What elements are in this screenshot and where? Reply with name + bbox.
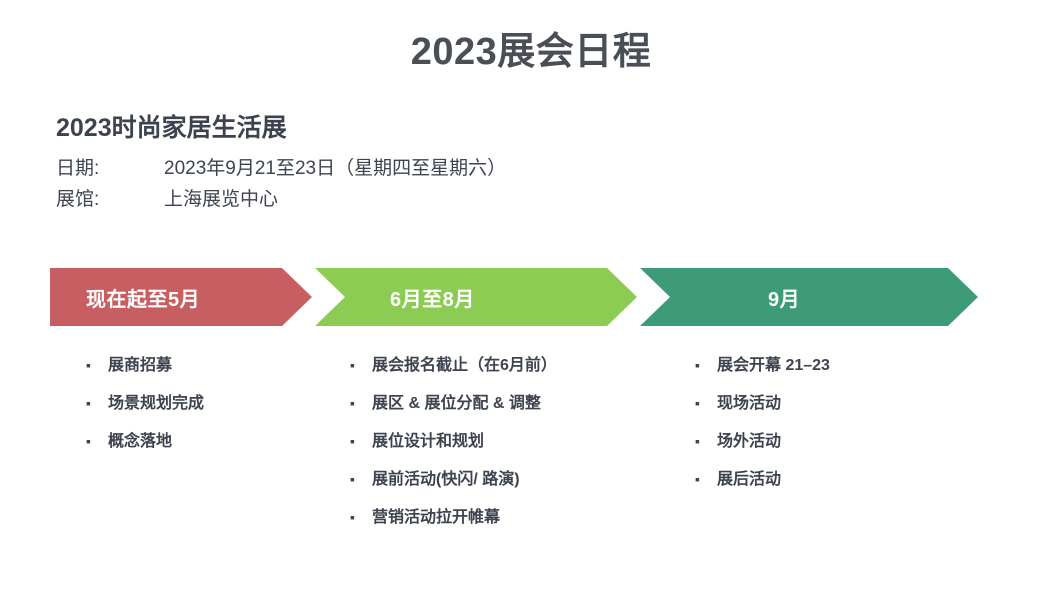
bullet-icon: ▪ — [350, 394, 372, 413]
timeline-stage-1: 现在起至5月 — [50, 268, 312, 326]
bullet-icon: ▪ — [86, 356, 108, 375]
timeline-banner: 现在起至5月 6月至8月 9月 — [50, 268, 978, 326]
event-date-row: 日期: 2023年9月21至23日（星期四至星期六） — [56, 154, 506, 185]
bullet-icon: ▪ — [695, 470, 717, 489]
list-item: ▪ 展区 & 展位分配 & 调整 — [350, 394, 630, 414]
list-item-label: 展会报名截止（在6月前） — [372, 356, 630, 376]
event-venue-value: 上海展览中心 — [164, 185, 506, 216]
event-name: 2023时尚家居生活展 — [56, 112, 506, 146]
bullet-icon: ▪ — [695, 394, 717, 413]
list-item: ▪ 展会报名截止（在6月前） — [350, 356, 630, 376]
list-item-label: 展前活动(快闪/ 路演) — [372, 470, 630, 490]
timeline-stage-3-label: 9月 — [768, 283, 800, 312]
list-item: ▪ 展位设计和规划 — [350, 432, 630, 452]
list-item: ▪ 展商招募 — [86, 356, 336, 376]
list-item: ▪ 展前活动(快闪/ 路演) — [350, 470, 630, 490]
bullet-icon: ▪ — [350, 432, 372, 451]
list-item-label: 展会开幕 21–23 — [717, 356, 955, 376]
list-item: ▪ 场景规划完成 — [86, 394, 336, 414]
list-item-label: 场外活动 — [717, 432, 955, 452]
list-item: ▪ 展后活动 — [695, 470, 955, 490]
stage-2-task-list: ▪ 展会报名截止（在6月前） ▪ 展区 & 展位分配 & 调整 ▪ 展位设计和规… — [350, 356, 630, 546]
bullet-icon: ▪ — [695, 356, 717, 375]
list-item: ▪ 营销活动拉开帷幕 — [350, 508, 630, 528]
bullet-icon: ▪ — [695, 432, 717, 451]
event-venue-row: 展馆: 上海展览中心 — [56, 185, 506, 216]
bullet-icon: ▪ — [350, 508, 372, 527]
event-date-label: 日期: — [56, 154, 164, 185]
timeline-details: ▪ 展商招募 ▪ 场景规划完成 ▪ 概念落地 ▪ 展会报名截止（在6月前） ▪ … — [50, 356, 978, 536]
list-item-label: 营销活动拉开帷幕 — [372, 508, 630, 528]
list-item-label: 现场活动 — [717, 394, 955, 414]
list-item-label: 展位设计和规划 — [372, 432, 630, 452]
event-date-value: 2023年9月21至23日（星期四至星期六） — [164, 154, 506, 185]
stage-3-task-list: ▪ 展会开幕 21–23 ▪ 现场活动 ▪ 场外活动 ▪ 展后活动 — [695, 356, 955, 508]
list-item: ▪ 概念落地 — [86, 432, 336, 452]
bullet-icon: ▪ — [86, 394, 108, 413]
timeline-stage-1-label: 现在起至5月 — [86, 283, 200, 312]
event-info-block: 2023时尚家居生活展 日期: 2023年9月21至23日（星期四至星期六） 展… — [56, 112, 506, 215]
bullet-icon: ▪ — [350, 470, 372, 489]
list-item: ▪ 现场活动 — [695, 394, 955, 414]
list-item: ▪ 场外活动 — [695, 432, 955, 452]
bullet-icon: ▪ — [350, 356, 372, 375]
list-item: ▪ 展会开幕 21–23 — [695, 356, 955, 376]
timeline-stage-2: 6月至8月 — [315, 268, 637, 326]
list-item-label: 场景规划完成 — [108, 394, 336, 414]
list-item-label: 展区 & 展位分配 & 调整 — [372, 394, 630, 414]
page-title: 2023展会日程 — [0, 30, 1062, 76]
list-item-label: 展商招募 — [108, 356, 336, 376]
list-item-label: 概念落地 — [108, 432, 336, 452]
list-item-label: 展后活动 — [717, 470, 955, 490]
timeline-stage-2-label: 6月至8月 — [390, 283, 475, 312]
bullet-icon: ▪ — [86, 432, 108, 451]
event-venue-label: 展馆: — [56, 185, 164, 216]
stage-1-task-list: ▪ 展商招募 ▪ 场景规划完成 ▪ 概念落地 — [86, 356, 336, 470]
timeline-stage-3: 9月 — [640, 268, 978, 326]
